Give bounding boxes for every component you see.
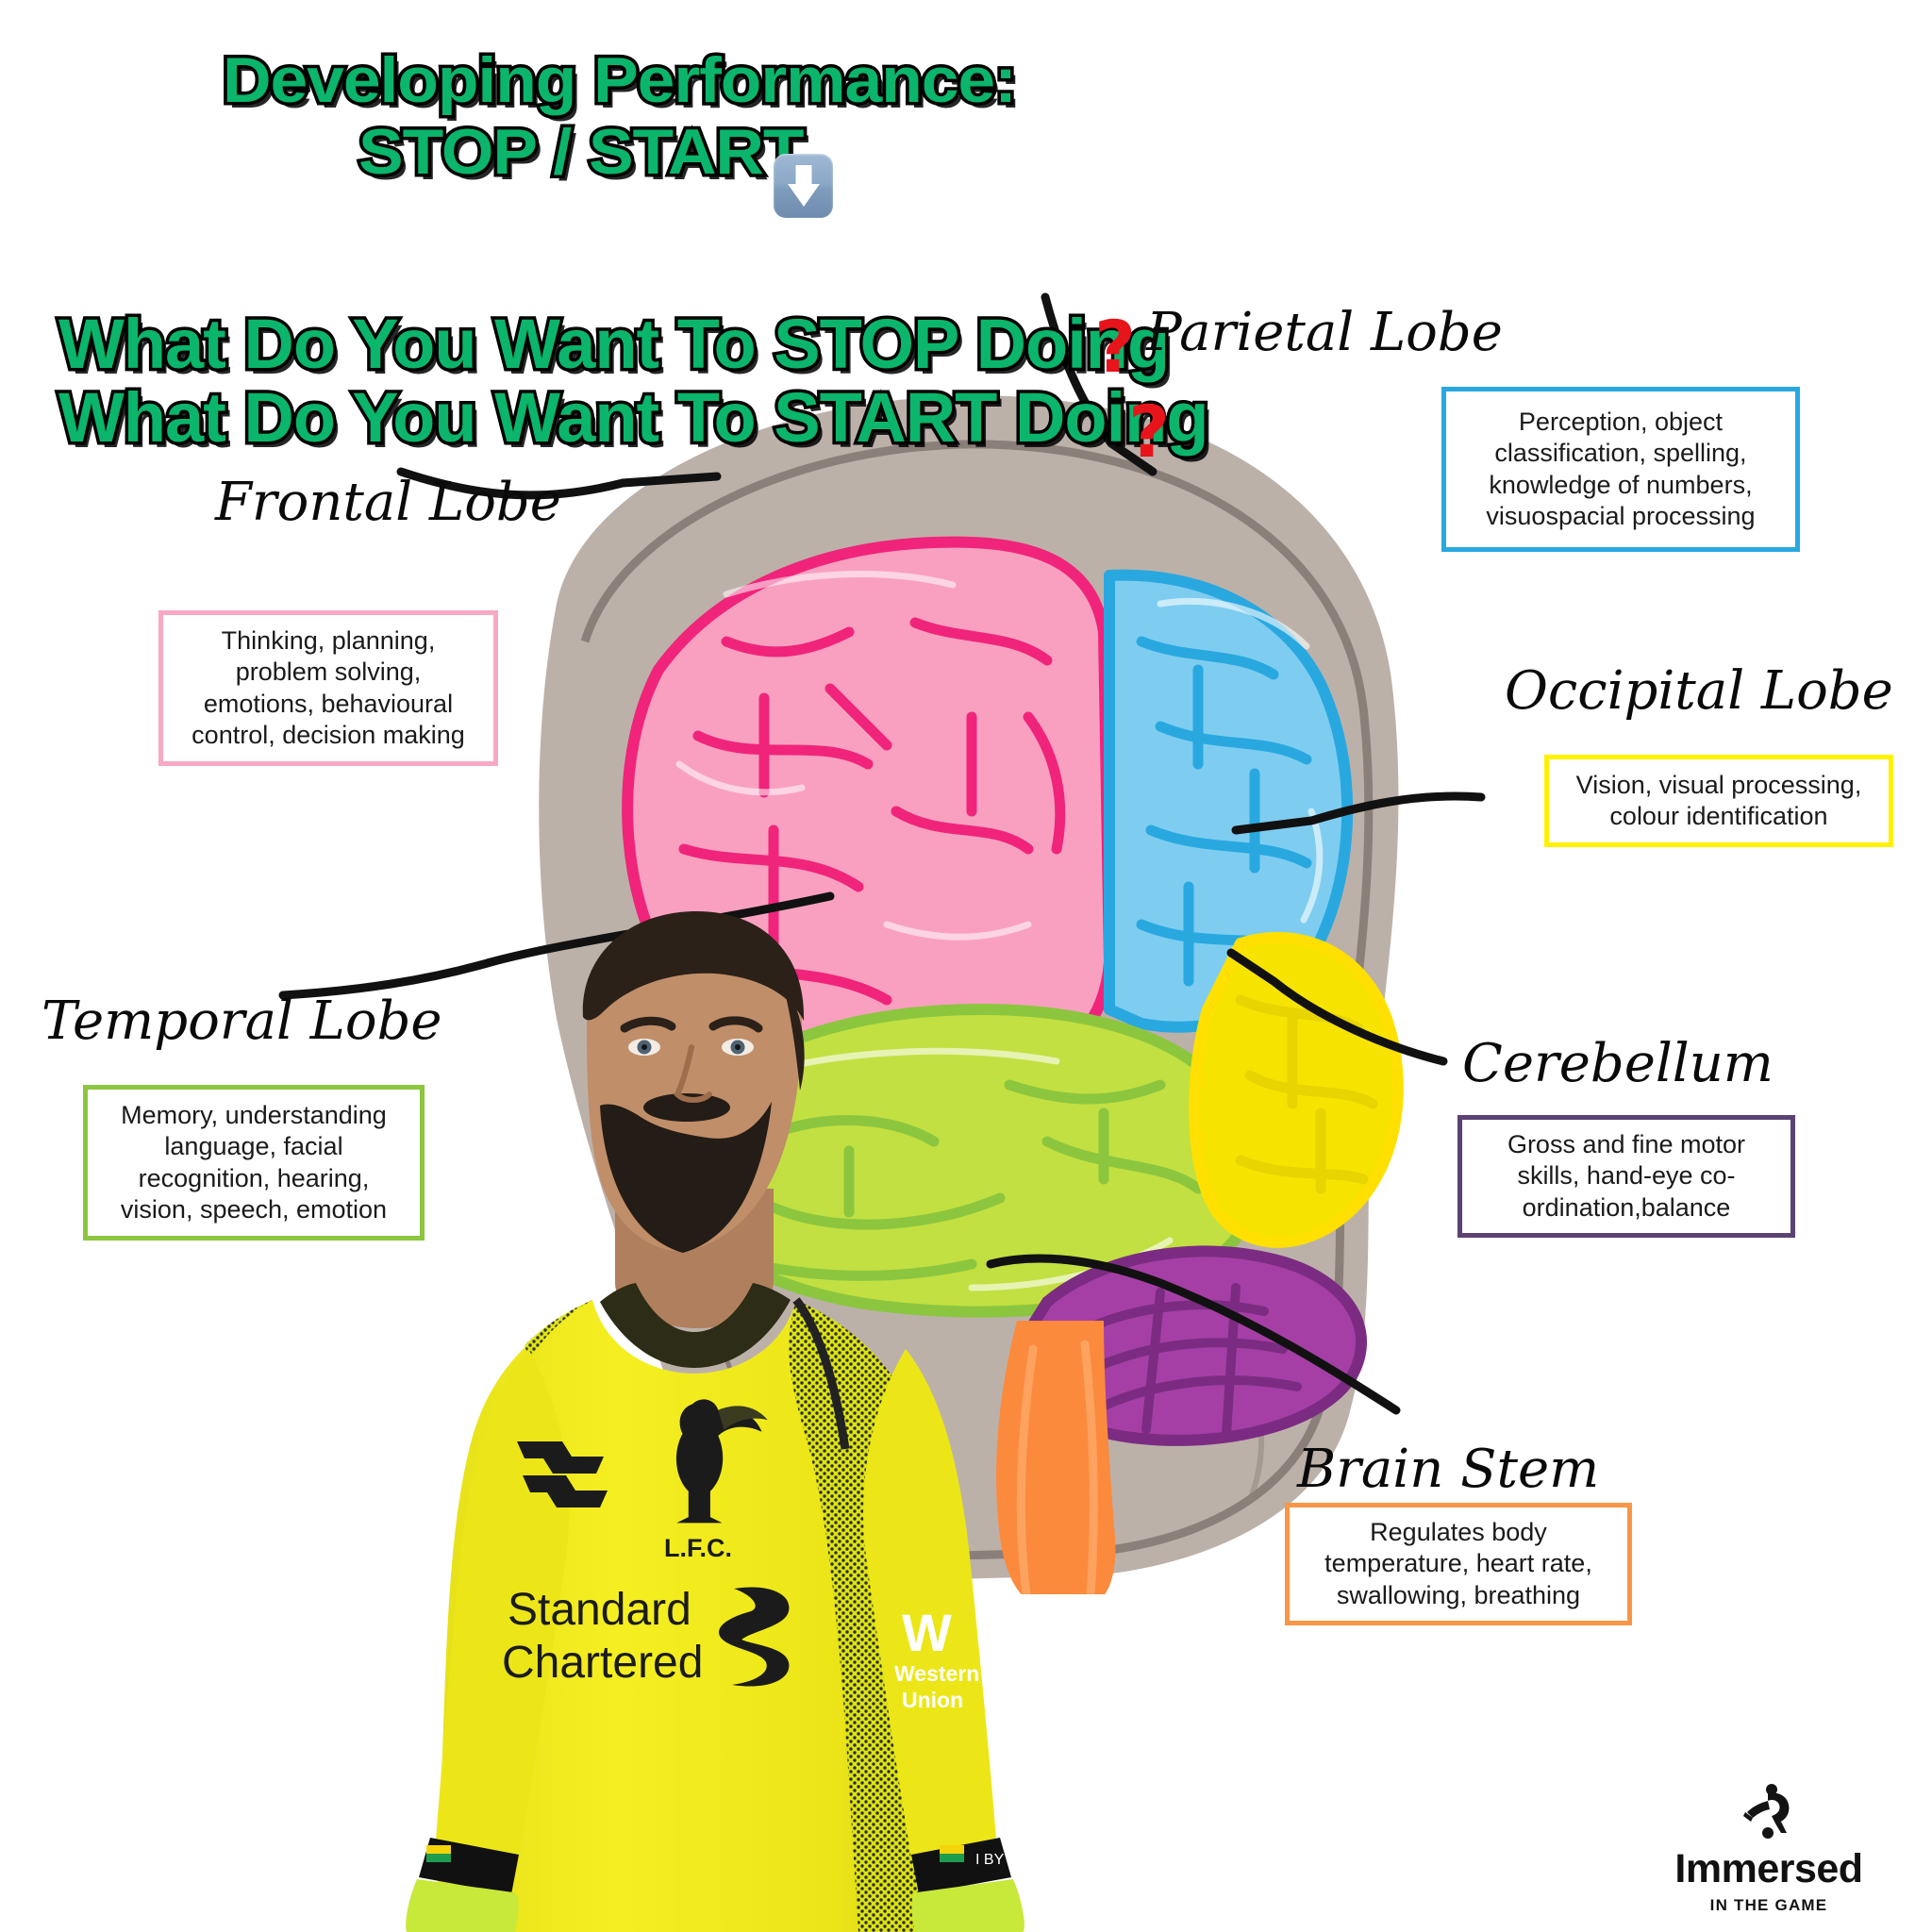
desc-line: knowledge of numbers, (1486, 470, 1755, 501)
desc-line: emotions, behavioural (192, 689, 465, 720)
label-frontal-lobe: Frontal Lobe (215, 472, 561, 533)
desc-line: visuospacial processing (1486, 501, 1755, 532)
question-mark-start: ? (1128, 396, 1170, 468)
svg-text:W: W (902, 1603, 952, 1662)
desc-line: control, decision making (192, 720, 465, 751)
desc-line: Vision, visual processing, (1576, 770, 1862, 801)
label-parietal-lobe: Parietal Lobe (1146, 302, 1503, 363)
desc-line: Regulates body (1324, 1517, 1592, 1548)
kit-sponsor-line-2: Chartered (502, 1638, 703, 1688)
desc-box-brainstem: Regulates body temperature, heart rate, … (1285, 1503, 1632, 1625)
label-brain-stem: Brain Stem (1297, 1439, 1599, 1500)
desc-box-cerebellum: Gross and fine motor skills, hand-eye co… (1457, 1115, 1795, 1238)
desc-line: colour identification (1576, 801, 1862, 832)
question-stop: What Do You Want To STOP Doing (58, 304, 1169, 384)
svg-text:Western: Western (894, 1661, 979, 1686)
desc-line: recognition, hearing, (121, 1163, 387, 1194)
kit-sponsor-line-1: Standard (508, 1585, 691, 1635)
down-arrow-icon (774, 154, 833, 218)
desc-line: language, facial (121, 1131, 387, 1162)
desc-line: swallowing, breathing (1324, 1580, 1592, 1611)
desc-box-temporal: Memory, understanding language, facial r… (83, 1085, 425, 1241)
desc-box-frontal: Thinking, planning, problem solving, emo… (158, 610, 498, 766)
poster-title-line-1: Developing Performance: (223, 43, 1016, 117)
infographic-poster: Developing Performance: STOP / START Wha… (0, 0, 1932, 1932)
brand-logo: Immersed IN THE GAME (1641, 1782, 1896, 1915)
desc-line: skills, hand-eye co- (1507, 1160, 1745, 1191)
desc-line: Gross and fine motor (1507, 1129, 1745, 1160)
svg-text:Union: Union (902, 1688, 963, 1712)
goalkeeper-glove-left (406, 1838, 519, 1932)
label-occipital-lobe: Occipital Lobe (1505, 660, 1893, 722)
poster-title-line-2: STOP / START (358, 115, 803, 189)
club-badge-text: L.F.C. (664, 1534, 732, 1562)
occipital-lobe-region (1194, 938, 1398, 1242)
desc-line: ordination,balance (1507, 1192, 1745, 1224)
logo-wordmark: Immersed (1641, 1849, 1896, 1890)
question-mark-stop: ? (1094, 311, 1136, 383)
desc-box-occipital: Vision, visual processing, colour identi… (1544, 755, 1893, 847)
desc-line: vision, speech, emotion (121, 1194, 387, 1225)
desc-box-parietal: Perception, object classification, spell… (1441, 387, 1800, 552)
desc-line: Memory, understanding (121, 1100, 387, 1131)
goalkeeper-photo: L.F.C. Standard Chartered W Western Unio… (377, 906, 1057, 1932)
footballer-kicking-icon (1641, 1782, 1896, 1840)
desc-line: Thinking, planning, (192, 625, 465, 657)
desc-line: Perception, object (1486, 407, 1755, 438)
question-start: What Do You Want To START Doing (58, 377, 1208, 458)
label-cerebellum: Cerebellum (1462, 1033, 1774, 1094)
svg-text:I BY: I BY (975, 1852, 1005, 1868)
desc-line: classification, spelling, (1486, 438, 1755, 469)
goalkeeper-glove-right: I BY (911, 1838, 1024, 1932)
logo-tagline: IN THE GAME (1641, 1896, 1896, 1915)
desc-line: temperature, heart rate, (1324, 1548, 1592, 1579)
desc-line: problem solving, (192, 657, 465, 688)
